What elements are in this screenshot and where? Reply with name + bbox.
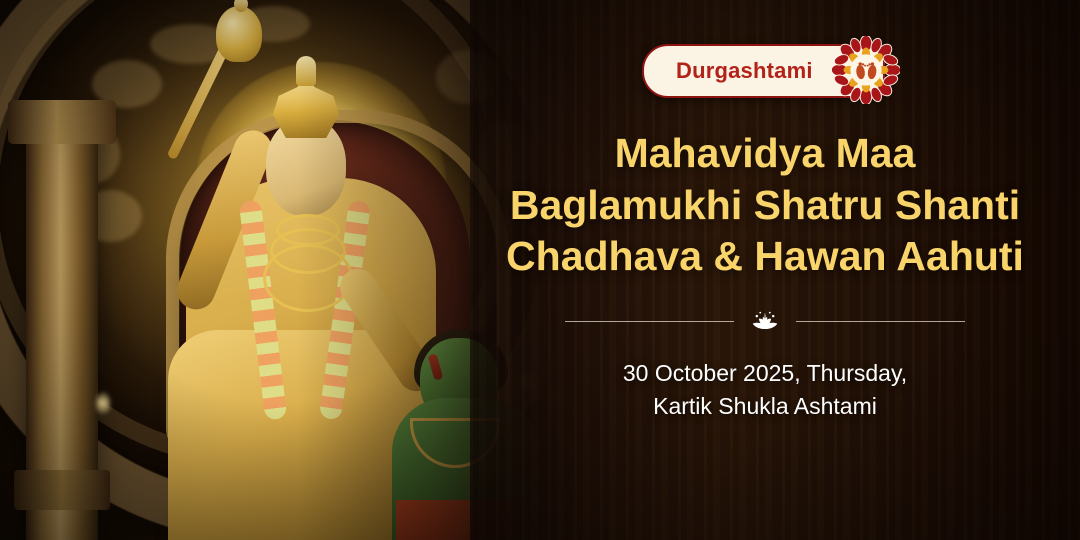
festival-badge-label: Durgashtami	[676, 58, 813, 84]
lotus-icon	[750, 309, 780, 335]
title-line-3: Chadhava & Hawan Aahuti	[506, 231, 1024, 283]
promo-banner: Durgashtami	[0, 0, 1080, 540]
date-line-2: Kartik Shukla Ashtami	[623, 390, 907, 423]
lotus-feet-mandala-icon	[832, 36, 900, 104]
title-line-2: Baglamukhi Shatru Shanti	[506, 180, 1024, 232]
divider-line-left	[565, 321, 734, 322]
content-block: Mahavidya Maa Baglamukhi Shatru Shanti C…	[470, 128, 1060, 422]
divider-line-right	[796, 321, 965, 322]
title-line-1: Mahavidya Maa	[506, 128, 1024, 180]
date-line-1: 30 October 2025, Thursday,	[623, 357, 907, 390]
lotus-divider	[565, 309, 965, 335]
event-date: 30 October 2025, Thursday, Kartik Shukla…	[623, 357, 907, 422]
page-title: Mahavidya Maa Baglamukhi Shatru Shanti C…	[506, 128, 1024, 283]
